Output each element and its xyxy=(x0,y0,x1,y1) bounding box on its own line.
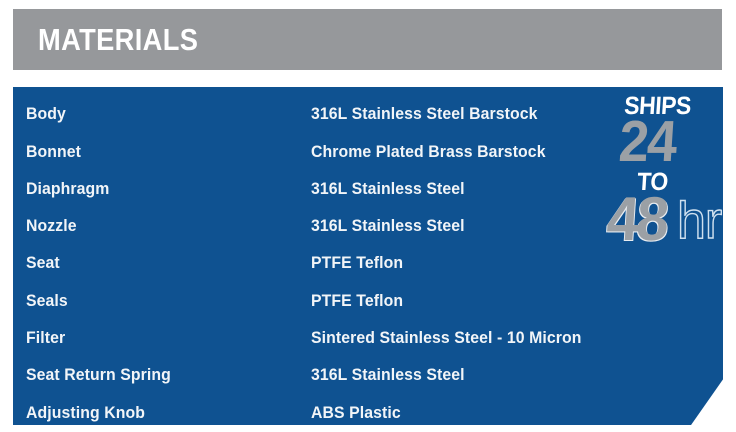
table-row: SealsPTFE Teflon xyxy=(13,282,723,320)
table-row: SeatPTFE Teflon xyxy=(13,244,723,282)
component-material-cell: Chrome Plated Brass Barstock xyxy=(311,143,546,160)
section-header-band: MATERIALS xyxy=(13,9,722,70)
component-name-cell: Seat Return Spring xyxy=(26,366,171,383)
component-name-cell: Seat xyxy=(26,254,60,271)
table-row: Adjusting KnobABS Plastic xyxy=(13,393,723,431)
component-material-cell: PTFE Teflon xyxy=(311,254,403,271)
component-material-cell: Sintered Stainless Steel - 10 Micron xyxy=(311,329,581,346)
table-row: Diaphragm316L Stainless Steel xyxy=(13,170,723,208)
table-row: Seat Return Spring316L Stainless Steel xyxy=(13,356,723,394)
table-row: Nozzle316L Stainless Steel xyxy=(13,207,723,245)
component-name-cell: Adjusting Knob xyxy=(26,404,145,421)
materials-panel: Body316L Stainless Steel BarstockBonnetC… xyxy=(13,87,723,425)
materials-spec-sheet: MATERIALS Body316L Stainless Steel Barst… xyxy=(0,0,736,432)
component-name-cell: Bonnet xyxy=(26,143,81,160)
component-name-cell: Nozzle xyxy=(26,217,77,234)
component-material-cell: PTFE Teflon xyxy=(311,292,403,309)
page-title: MATERIALS xyxy=(38,23,198,54)
component-material-cell: 316L Stainless Steel Barstock xyxy=(311,105,538,122)
component-name-cell: Body xyxy=(26,105,66,122)
table-row: BonnetChrome Plated Brass Barstock xyxy=(13,132,723,170)
component-material-cell: 316L Stainless Steel xyxy=(311,366,465,383)
table-row: FilterSintered Stainless Steel - 10 Micr… xyxy=(13,319,723,357)
component-material-cell: 316L Stainless Steel xyxy=(311,217,465,234)
component-name-cell: Diaphragm xyxy=(26,180,109,197)
component-material-cell: ABS Plastic xyxy=(311,404,401,421)
component-material-cell: 316L Stainless Steel xyxy=(311,180,465,197)
component-name-cell: Filter xyxy=(26,329,65,346)
materials-table: Body316L Stainless Steel BarstockBonnetC… xyxy=(13,87,723,425)
component-name-cell: Seals xyxy=(26,292,68,309)
table-row: Body316L Stainless Steel Barstock xyxy=(13,95,723,133)
